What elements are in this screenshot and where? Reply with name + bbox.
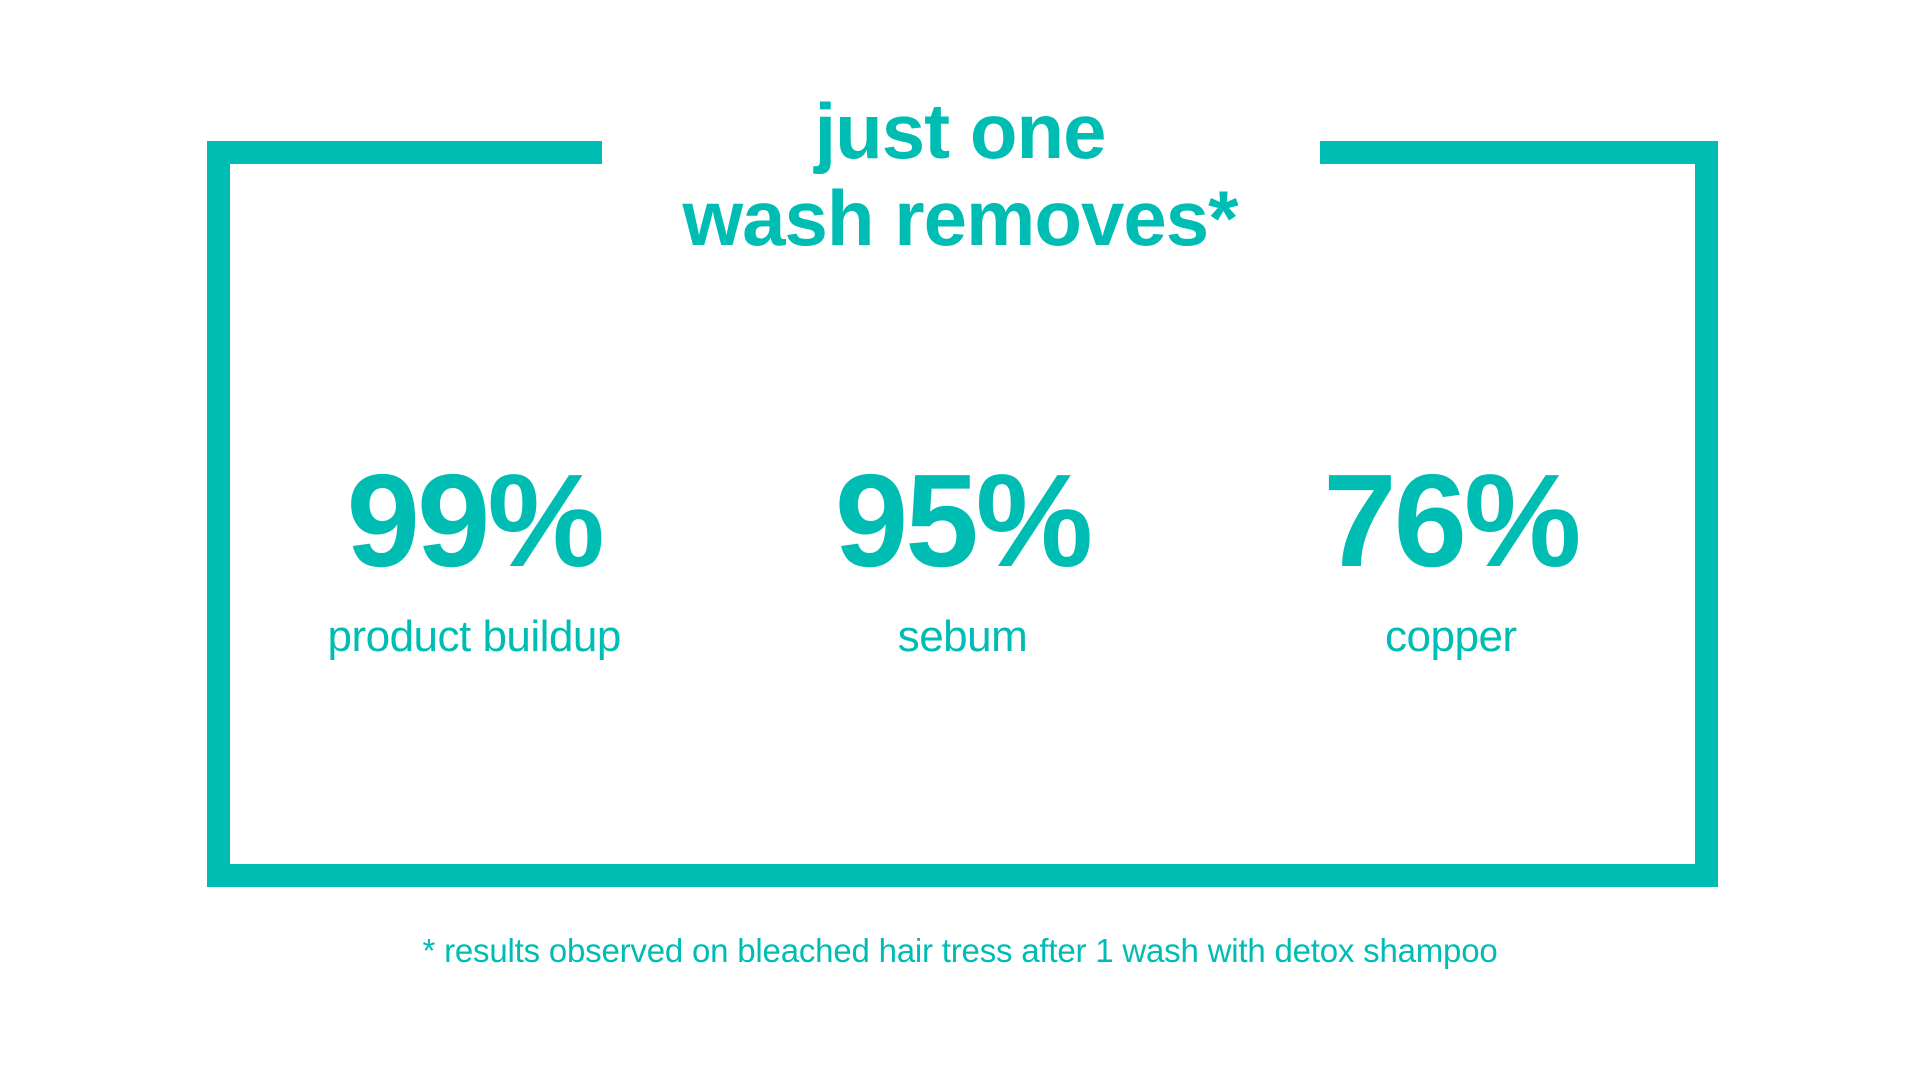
stat-sebum: 95% sebum <box>718 455 1206 661</box>
stat-value: 76% <box>1207 455 1695 587</box>
stat-label: copper <box>1207 613 1695 661</box>
footnote-text: * results observed on bleached hair tres… <box>0 932 1920 970</box>
stats-row: 99% product buildup 95% sebum 76% copper <box>230 455 1695 661</box>
stat-copper: 76% copper <box>1207 455 1695 661</box>
stat-label: sebum <box>718 613 1206 661</box>
stat-label: product buildup <box>230 613 718 661</box>
stat-value: 95% <box>718 455 1206 587</box>
poster-canvas: just one wash removes* 99% product build… <box>0 0 1920 1080</box>
stat-value: 99% <box>230 455 718 587</box>
stat-product-buildup: 99% product buildup <box>230 455 718 661</box>
page-title-line-2: wash removes* <box>0 175 1920 262</box>
page-title-line-1: just one <box>0 88 1920 175</box>
page-title: just one wash removes* <box>0 88 1920 263</box>
